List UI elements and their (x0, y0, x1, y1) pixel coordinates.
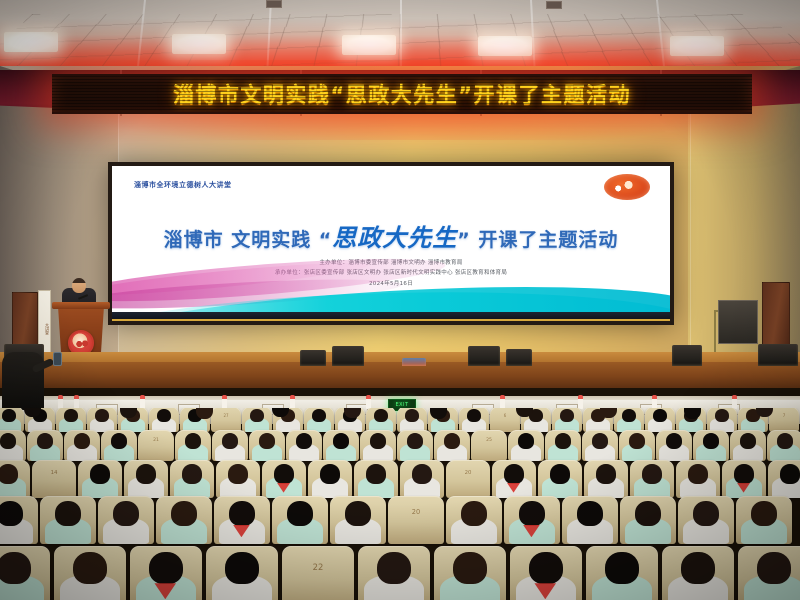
audience-member-head (74, 433, 91, 449)
audience-member-head (555, 433, 572, 449)
podium-top-surface (52, 302, 110, 309)
audience-member-head (222, 433, 239, 449)
stage-monitor-speaker (300, 350, 326, 366)
audience-member-head (0, 433, 16, 449)
water-bottle (366, 395, 371, 409)
audience-seat: 22 (282, 546, 354, 600)
speaker-head (72, 278, 86, 293)
audience-member-head (157, 409, 171, 423)
audience-member-head (111, 433, 128, 449)
audience-member-head (0, 464, 18, 484)
water-bottle (74, 395, 79, 409)
audience-member-head (0, 552, 31, 584)
audience-seat: 25 (471, 430, 507, 461)
screen-main-title: 淄博市 文明实践 “思政大先生” 开课了主题活动 (112, 218, 670, 253)
audience-member-head (560, 409, 574, 423)
seat-number: 14 (32, 470, 76, 476)
audience-member-head (635, 501, 661, 526)
audience-member-head (320, 464, 340, 484)
screen-header-label: 淄博市全环境立德树人大讲堂 (134, 180, 232, 190)
ceiling-vent (546, 1, 562, 9)
audience-member-head (95, 409, 109, 423)
audience-member-head (412, 464, 432, 484)
audience-member-head (715, 409, 729, 423)
seat-number: 7 (769, 413, 799, 418)
audience-member-head (688, 464, 708, 484)
seat-number: 27 (211, 413, 241, 418)
ceiling-panel-light (4, 32, 58, 52)
audience-member-head (592, 433, 609, 449)
audience-member-head (596, 464, 616, 484)
audience-member-head (90, 464, 110, 484)
audience-member-head (333, 433, 350, 449)
audience-member-head (642, 464, 662, 484)
audience-seat: 27 (211, 408, 241, 432)
water-bottle (578, 395, 583, 409)
audience-seat: 20 (446, 460, 490, 498)
audience-seat: 20 (388, 496, 444, 544)
camera-operator (2, 352, 44, 410)
seat-number: 22 (282, 562, 354, 572)
audience-member-head (225, 552, 258, 584)
water-bottle (222, 395, 227, 409)
audience-member-head (461, 501, 487, 526)
led-scrolling-banner: 淄博市文明实践“思政大先生”开课了主题活动 (52, 74, 752, 114)
stage-monitor-speaker (758, 344, 798, 366)
stage-monitor-speaker (672, 345, 702, 366)
smartphone-icon (53, 352, 62, 366)
audience-member-head (182, 464, 202, 484)
audience-member-head (777, 433, 794, 449)
audience-member-head (287, 501, 313, 526)
screen-title-prefix: 淄博市 文明实践 “ (164, 229, 333, 251)
audience-member-head (136, 464, 156, 484)
audience-member-head (577, 501, 603, 526)
audience-member-head (250, 409, 264, 423)
audience-member-head (467, 409, 481, 423)
audience-seat: 7 (769, 408, 799, 432)
audience-member-head (453, 552, 486, 584)
audience-member-head (757, 552, 790, 584)
seat-number: 20 (446, 470, 490, 476)
water-bottle (652, 395, 657, 409)
seat-number: 20 (388, 508, 444, 516)
audience-member-head (504, 464, 524, 484)
audience-member-head (653, 409, 667, 423)
audience-member-head (780, 464, 800, 484)
audience-member-head (296, 433, 313, 449)
audience-member-head (374, 409, 388, 423)
audience-member-head (171, 501, 197, 526)
audience-member-head (681, 552, 714, 584)
auditorium-photo: 淄博市文明实践“思政大先生”开课了主题活动 淄博市全环境立德树人大讲堂 淄博市 … (0, 0, 800, 600)
audience-member-head (64, 409, 78, 423)
audience-member-head (37, 433, 54, 449)
audience-member-head (629, 433, 646, 449)
ceiling-panel-light (172, 34, 226, 54)
audience-member-head (605, 552, 638, 584)
stage-monitor-speaker (468, 346, 500, 366)
audience-member-head (550, 464, 570, 484)
water-bottle (732, 395, 737, 409)
audience-member-head (149, 552, 182, 584)
audience-member-head (751, 501, 777, 526)
projection-screen-frame: 淄博市全环境立德树人大讲堂 淄博市 文明实践 “思政大先生” 开课了主题活动 主… (108, 162, 674, 325)
audience-member-head (740, 433, 757, 449)
ceiling-panel-light (342, 35, 396, 55)
audience-member-head (2, 409, 16, 423)
audience-member-head (622, 409, 636, 423)
screen-title-suffix: ” 开课了主题活动 (457, 229, 618, 251)
ceiling-panel-light (478, 36, 532, 56)
projection-screen: 淄博市全环境立德树人大讲堂 淄博市 文明实践 “思政大先生” 开课了主题活动 主… (112, 166, 670, 321)
screen-footer-gold-line (112, 319, 670, 321)
audience-seat: 14 (32, 460, 76, 498)
audience-member-head (529, 552, 562, 584)
audience-member-head (113, 501, 139, 526)
audience-member-head (0, 501, 23, 526)
water-bottle (500, 395, 505, 409)
audience-member-head (703, 433, 720, 449)
audience-seat: 21 (138, 430, 174, 461)
audience-member-head (345, 501, 371, 526)
audience-member-head (185, 433, 202, 449)
audience-member-head (312, 409, 326, 423)
audience-member-head (370, 433, 387, 449)
seat-number: 25 (471, 438, 507, 443)
audience-member-head (366, 464, 386, 484)
audience-member-head (693, 501, 719, 526)
audience-member-head (377, 552, 410, 584)
orange-oval-emblem-icon (604, 174, 650, 200)
screen-title-highlight: 思政大先生 (332, 224, 457, 252)
ceiling-vent (266, 0, 282, 8)
stage-monitor-speaker (332, 346, 364, 366)
ceiling (0, 0, 800, 72)
audience-member-head (666, 433, 683, 449)
audience-member-head (55, 501, 81, 526)
audience-member-head (444, 433, 461, 449)
audience-member-head (407, 433, 424, 449)
audience-member-head (734, 464, 754, 484)
seat-number: 6 (490, 413, 520, 418)
water-bottle (290, 395, 295, 409)
stage-monitor-speaker (506, 349, 532, 366)
audience-member-head (274, 464, 294, 484)
ceiling-beam (400, 0, 402, 72)
cart-equipment-box (718, 300, 758, 344)
audience-member-head (405, 409, 419, 423)
stage-monitor-speaker (402, 358, 426, 366)
audience-member-head (229, 501, 255, 526)
audience-member-head (259, 433, 276, 449)
ceiling-panel-light (670, 36, 724, 56)
seat-number: 21 (138, 438, 174, 443)
audience-member-head (73, 552, 106, 584)
water-bottle (140, 395, 145, 409)
audience-member-head (518, 433, 535, 449)
audience-member-head (228, 464, 248, 484)
audience-member-head (519, 501, 545, 526)
water-bottle (58, 395, 63, 409)
led-banner-text: 淄博市文明实践“思政大先生”开课了主题活动 (173, 79, 631, 109)
audience-seating-area: 6781420212527678142021252767814202125276… (0, 408, 800, 600)
